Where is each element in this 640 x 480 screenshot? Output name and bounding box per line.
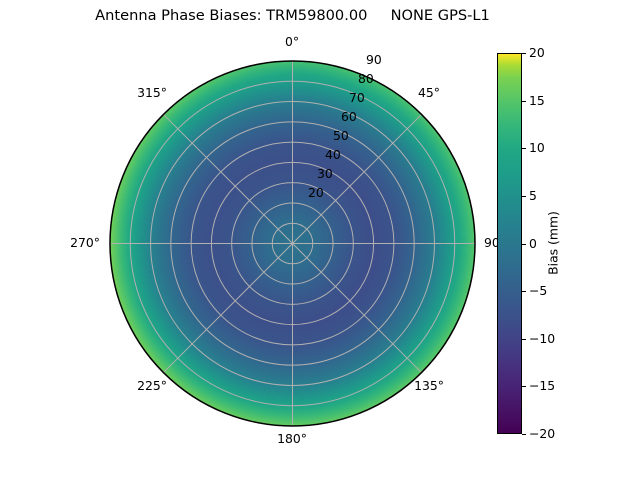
r-tick-label-70: 70 [349, 91, 365, 105]
colorbar-ticklabel-20: 20 [529, 46, 545, 60]
colorbar-tick [522, 53, 526, 54]
r-tick-label-60: 60 [341, 110, 357, 124]
r-tick-label-50: 50 [333, 129, 349, 143]
theta-tick-label-270: 270° [70, 236, 100, 250]
r-tick-label-80: 80 [358, 72, 374, 86]
colorbar-tick [522, 148, 526, 149]
r-tick-label-20: 20 [308, 186, 324, 200]
colorbar-ticklabel-15: 15 [529, 94, 545, 108]
polar-plot-axes: 0° 45° 90 135° 180° 225° 270° 315° 20 30… [109, 60, 476, 427]
theta-tick-label-45: 45° [418, 86, 440, 100]
theta-tick-label-225: 225° [137, 379, 167, 393]
theta-tick-label-0: 0° [285, 35, 299, 49]
page-title: Antenna Phase Biases: TRM59800.00 NONE G… [0, 7, 585, 25]
theta-tick-label-180: 180° [277, 432, 307, 446]
colorbar-tick [522, 101, 526, 102]
colorbar-gradient [497, 53, 522, 434]
colorbar-ticklabel-neg20: −20 [529, 427, 555, 441]
colorbar-ticklabel-10: 10 [529, 141, 545, 155]
colorbar-ticklabel-neg5: −5 [529, 284, 547, 298]
polar-heatmap [109, 60, 476, 427]
colorbar-tick [522, 291, 526, 292]
colorbar-axis-label: Bias (mm) [546, 211, 561, 275]
figure-canvas: Antenna Phase Biases: TRM59800.00 NONE G… [0, 0, 640, 480]
colorbar-ticklabel-neg10: −10 [529, 332, 555, 346]
r-tick-label-40: 40 [325, 148, 341, 162]
colorbar: 20 15 10 5 0 −5 −10 −15 −20 [497, 53, 522, 434]
r-tick-label-30: 30 [317, 167, 333, 181]
colorbar-tick [522, 339, 526, 340]
colorbar-tick [522, 434, 526, 435]
colorbar-tick [522, 196, 526, 197]
r-tick-label-90: 90 [366, 53, 382, 67]
colorbar-tick [522, 386, 526, 387]
colorbar-ticklabel-0: 0 [529, 237, 537, 251]
colorbar-ticklabel-neg15: −15 [529, 379, 555, 393]
theta-tick-label-135: 135° [414, 379, 444, 393]
theta-tick-label-315: 315° [137, 86, 167, 100]
colorbar-ticklabel-5: 5 [529, 189, 537, 203]
colorbar-tick [522, 244, 526, 245]
